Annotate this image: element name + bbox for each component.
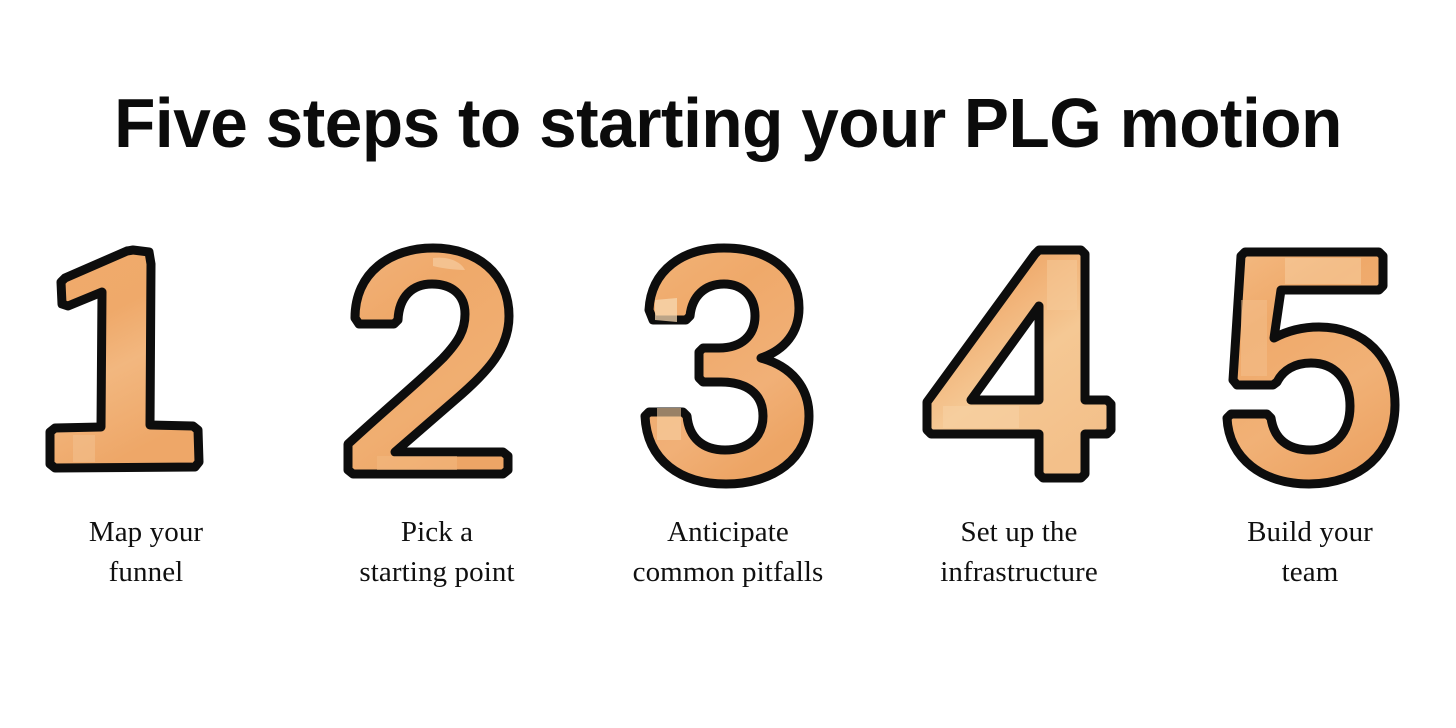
step-item-4: Set up the infrastructure: [874, 240, 1165, 640]
step-caption-4: Set up the infrastructure: [940, 512, 1098, 592]
step-item-3: Anticipate common pitfalls: [583, 240, 874, 640]
handdrawn-numeral-5-icon: [1211, 240, 1411, 490]
numeral-2-container: [337, 240, 537, 490]
step-caption-5: Build your team: [1247, 512, 1373, 592]
numeral-3-container: [629, 240, 829, 490]
handdrawn-numeral-3-icon: [629, 240, 829, 490]
step-caption-2: Pick a starting point: [359, 512, 514, 592]
handdrawn-numeral-4-icon: [919, 240, 1119, 490]
handdrawn-numeral-1-icon: [43, 240, 243, 490]
step-caption-3: Anticipate common pitfalls: [633, 512, 824, 592]
step-caption-1: Map your funnel: [89, 512, 203, 592]
page-title: Five steps to starting your PLG motion: [25, 88, 1430, 158]
numeral-1-container: [43, 240, 243, 490]
infographic-canvas: Five steps to starting your PLG motion: [0, 0, 1456, 728]
step-item-1: Map your funnel: [1, 240, 292, 640]
steps-row: Map your funnel: [0, 240, 1456, 640]
numeral-5-container: [1211, 240, 1411, 490]
step-item-2: Pick a starting point: [292, 240, 583, 640]
handdrawn-numeral-2-icon: [337, 240, 537, 490]
step-item-5: Build your team: [1165, 240, 1456, 640]
numeral-4-container: [919, 240, 1119, 490]
